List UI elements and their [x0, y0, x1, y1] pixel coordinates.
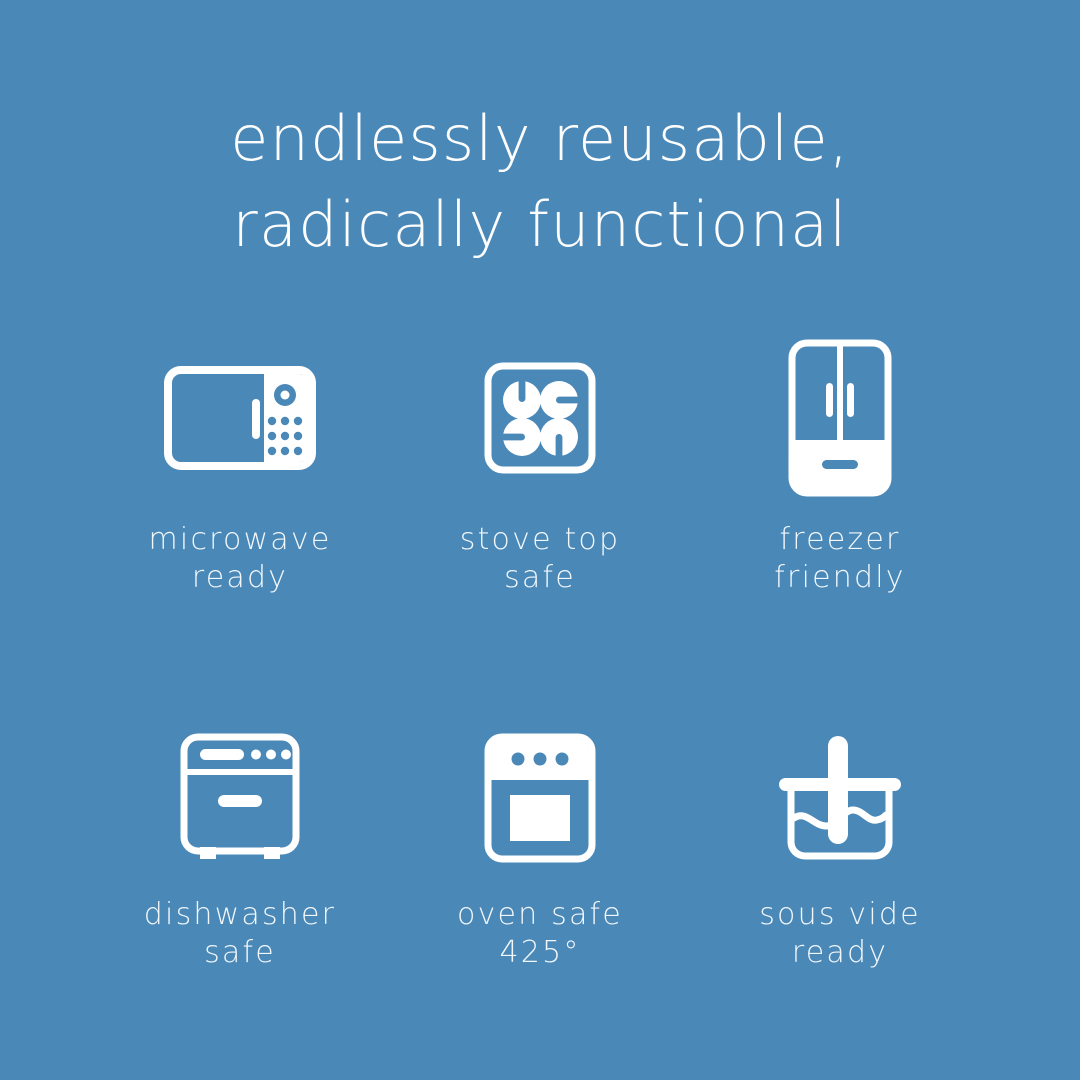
feature-label-line-2: safe [460, 559, 620, 597]
feature-grid: microwave ready [0, 330, 1080, 972]
microwave-icon [164, 330, 316, 505]
feature-label-line-2: ready [148, 559, 331, 597]
feature-label-line-2: friendly [774, 559, 905, 597]
feature-sous-vide: sous vide ready [690, 715, 990, 972]
feature-label: freezer friendly [774, 521, 905, 597]
headline: endlessly reusable, radically functional [0, 96, 1080, 268]
feature-label: oven safe 425° [457, 896, 623, 972]
feature-microwave: microwave ready [90, 330, 390, 597]
feature-label-line-2: safe [144, 934, 336, 972]
headline-line-2: radically functional [0, 182, 1080, 268]
feature-label: microwave ready [148, 521, 331, 597]
feature-dishwasher: dishwasher safe [90, 715, 390, 972]
sous-vide-icon [773, 715, 907, 880]
feature-row-top: microwave ready [0, 330, 1080, 597]
feature-label-line-2: 425° [457, 934, 623, 972]
feature-label-line-1: stove top [460, 522, 620, 557]
oven-icon [484, 715, 596, 880]
feature-label-line-1: dishwasher [144, 897, 336, 932]
feature-label: dishwasher safe [144, 896, 336, 972]
feature-label-line-2: ready [759, 934, 921, 972]
feature-label: stove top safe [460, 521, 620, 597]
promo-graphic: endlessly reusable, radically functional [0, 0, 1080, 1080]
feature-row-bottom: dishwasher safe [0, 715, 1080, 972]
headline-line-1: endlessly reusable, [0, 96, 1080, 182]
feature-label-line-1: freezer [779, 522, 900, 557]
freezer-icon [788, 330, 892, 505]
dishwasher-icon [180, 715, 300, 880]
feature-label-line-1: microwave [148, 522, 331, 557]
feature-freezer: freezer friendly [690, 330, 990, 597]
feature-stove-top: stove top safe [390, 330, 690, 597]
feature-label-line-1: oven safe [457, 897, 623, 932]
feature-label-line-1: sous vide [759, 897, 921, 932]
feature-label: sous vide ready [759, 896, 921, 972]
feature-oven: oven safe 425° [390, 715, 690, 972]
stove-top-icon [484, 330, 596, 505]
